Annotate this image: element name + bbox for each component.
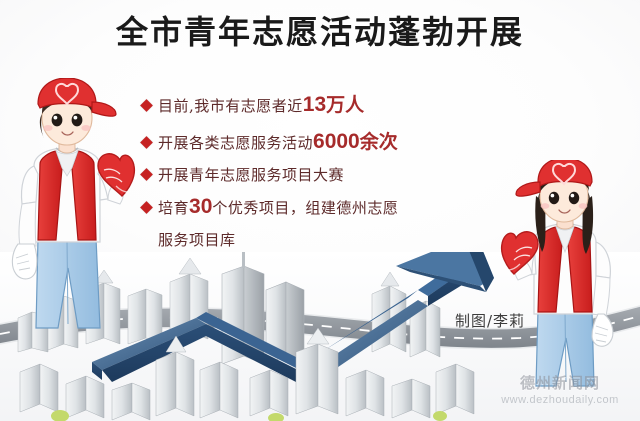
bullet-list: 目前,我市有志愿者近 13 万人 开展各类志愿服务活动 6000 余次 开展青年… xyxy=(142,90,502,250)
diamond-bullet-icon xyxy=(140,201,153,214)
bullet-4-highlight: 30 xyxy=(189,195,212,219)
female-volunteer-illustration xyxy=(498,160,628,400)
bullet-continuation-text: 服务项目库 xyxy=(158,229,502,250)
watermark: 德州新闻网 www.dezhoudaily.com xyxy=(485,376,635,406)
page-title: 全市青年志愿活动蓬勃开展 xyxy=(0,14,640,51)
diamond-bullet-icon xyxy=(140,99,153,112)
bullet-1-highlight-unit: 万人 xyxy=(326,90,364,117)
bullet-item-4: 培育 30 个优秀项目，组建德州志愿 xyxy=(142,195,502,219)
bullet-3-pre: 开展青年志愿服务项目大赛 xyxy=(158,164,344,185)
bullet-2-pre: 开展各类志愿服务活动 xyxy=(158,132,313,153)
bullet-4-post: 个优秀项目，组建德州志愿 xyxy=(212,197,398,218)
credit-line: 制图/李莉 xyxy=(455,310,525,331)
watermark-logo-text: 德州新闻网 xyxy=(485,376,635,391)
male-volunteer-illustration xyxy=(4,78,136,350)
bullet-item-2: 开展各类志愿服务活动 6000 余次 xyxy=(142,127,502,154)
bullet-item-1: 目前,我市有志愿者近 13 万人 xyxy=(142,90,502,117)
bullet-2-highlight: 6000 xyxy=(313,130,360,154)
diamond-bullet-icon xyxy=(140,136,153,149)
infographic-poster: 全市青年志愿活动蓬勃开展 xyxy=(0,0,640,421)
bullet-4-pre: 培育 xyxy=(158,197,189,218)
bullet-1-highlight: 13 xyxy=(303,93,326,117)
watermark-url: www.dezhoudaily.com xyxy=(485,394,635,406)
bullet-item-3: 开展青年志愿服务项目大赛 xyxy=(142,164,502,185)
bullet-2-highlight-unit: 余次 xyxy=(360,127,398,154)
diamond-bullet-icon xyxy=(140,168,153,181)
bullet-1-pre: 目前,我市有志愿者近 xyxy=(158,95,303,116)
